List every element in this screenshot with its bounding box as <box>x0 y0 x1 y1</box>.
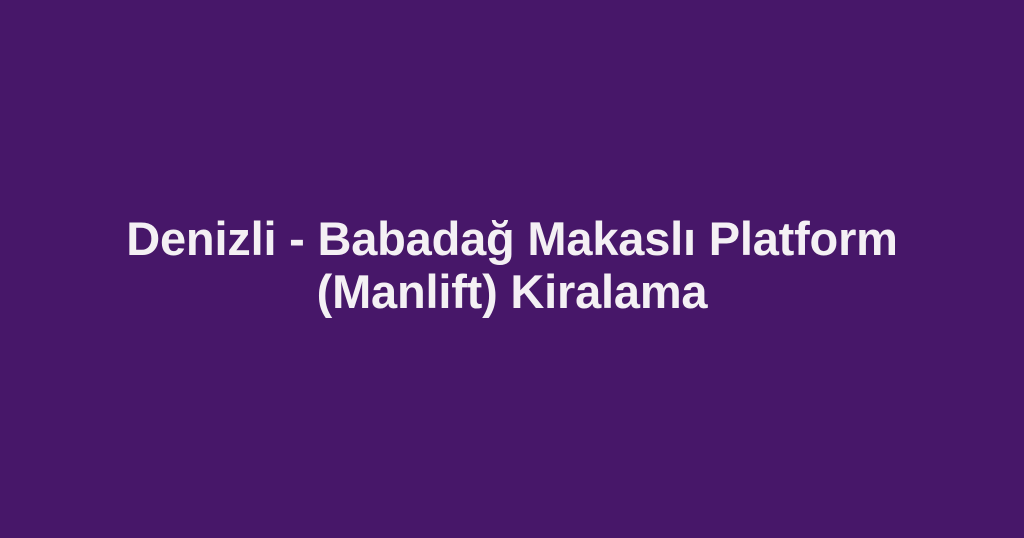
share-card: Denizli - Babadağ Makaslı Platform (Manl… <box>0 0 1024 538</box>
share-card-content: Denizli - Babadağ Makaslı Platform (Manl… <box>102 212 922 318</box>
page-title: Denizli - Babadağ Makaslı Platform (Manl… <box>102 212 922 318</box>
